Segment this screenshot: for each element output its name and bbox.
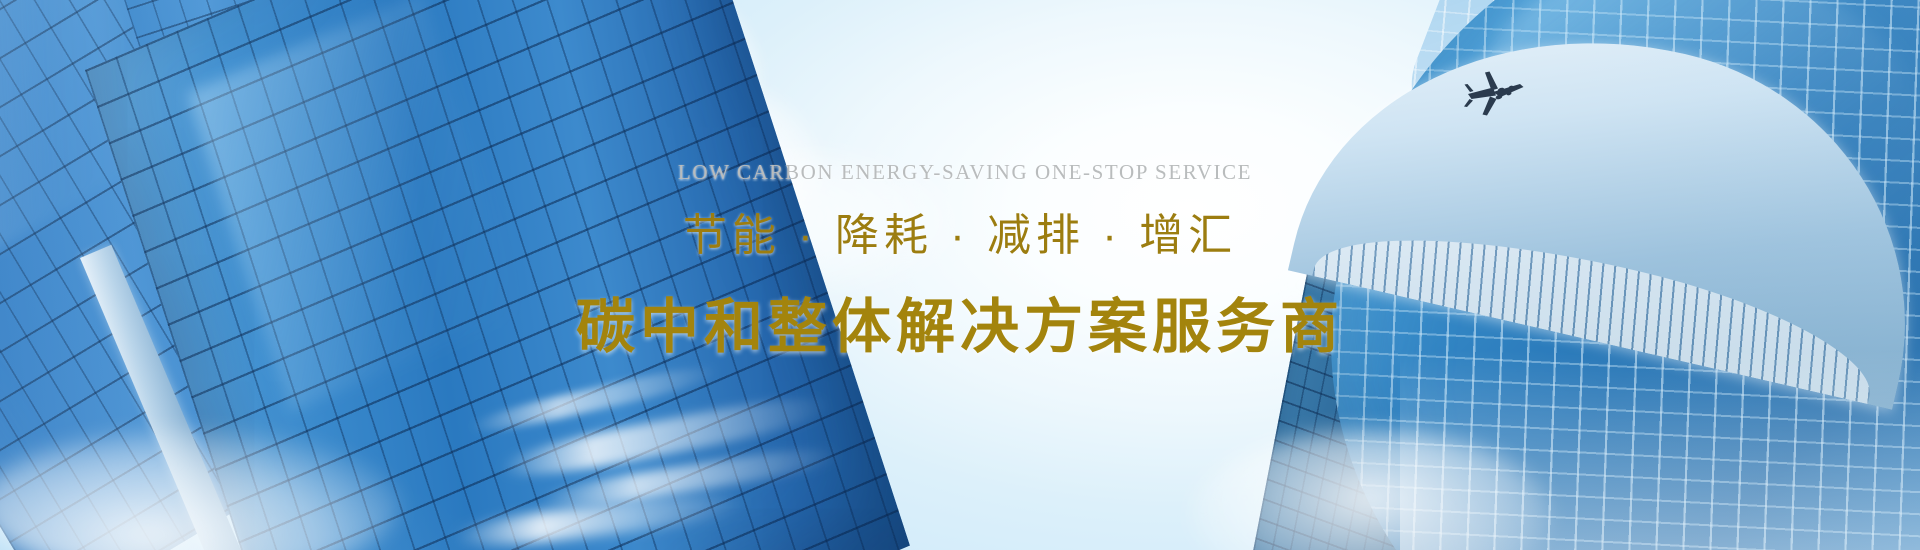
airplane-icon: [1463, 70, 1529, 118]
hero-banner: LOW CARBON ENERGY-SAVING ONE-STOP SERVIC…: [0, 0, 1920, 550]
